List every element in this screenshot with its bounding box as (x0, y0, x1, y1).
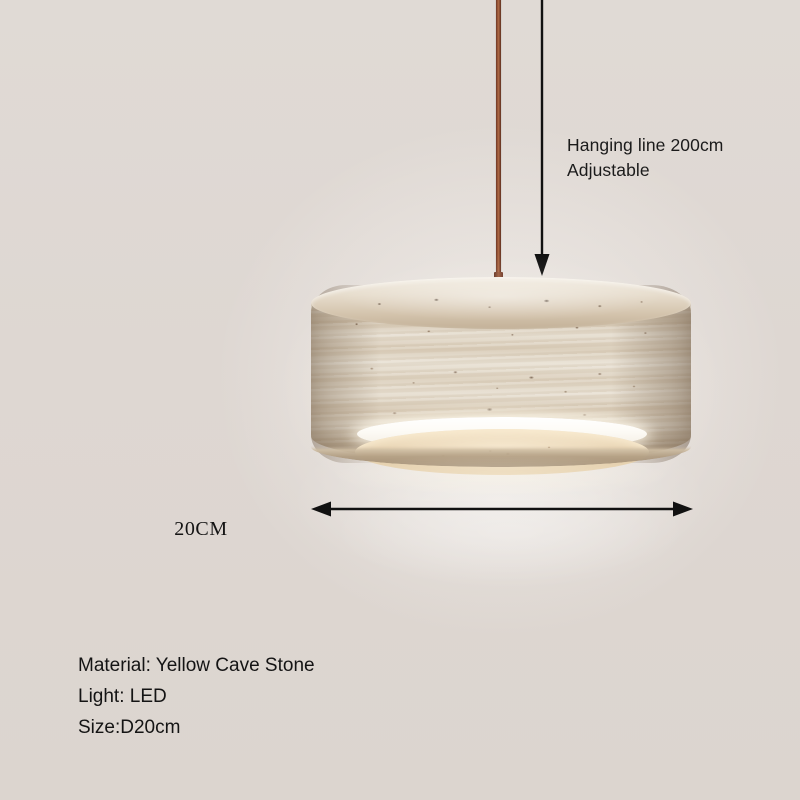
spec-material: Material: Yellow Cave Stone (78, 650, 315, 681)
hanging-line-text-1: Hanging line 200cm (567, 133, 723, 158)
product-image-canvas: Hanging line 200cm Adjustable 20CM Mater… (0, 0, 800, 800)
stone-shade-top-rim (311, 277, 691, 329)
hanging-cord (496, 0, 501, 288)
hanging-line-text-2: Adjustable (567, 158, 723, 183)
hanging-line-annotation: Hanging line 200cm Adjustable (567, 133, 723, 183)
hanging-line-arrow-icon (516, 0, 570, 288)
pendant-lamp (311, 277, 691, 477)
spec-size: Size:D20cm (78, 712, 315, 743)
spec-light: Light: LED (78, 681, 315, 712)
spec-list: Material: Yellow Cave Stone Light: LED S… (78, 650, 315, 743)
diameter-label-wrap: 20CM (0, 518, 800, 541)
illuminated-inner-base (355, 429, 649, 475)
diameter-label: 20CM (174, 518, 228, 540)
